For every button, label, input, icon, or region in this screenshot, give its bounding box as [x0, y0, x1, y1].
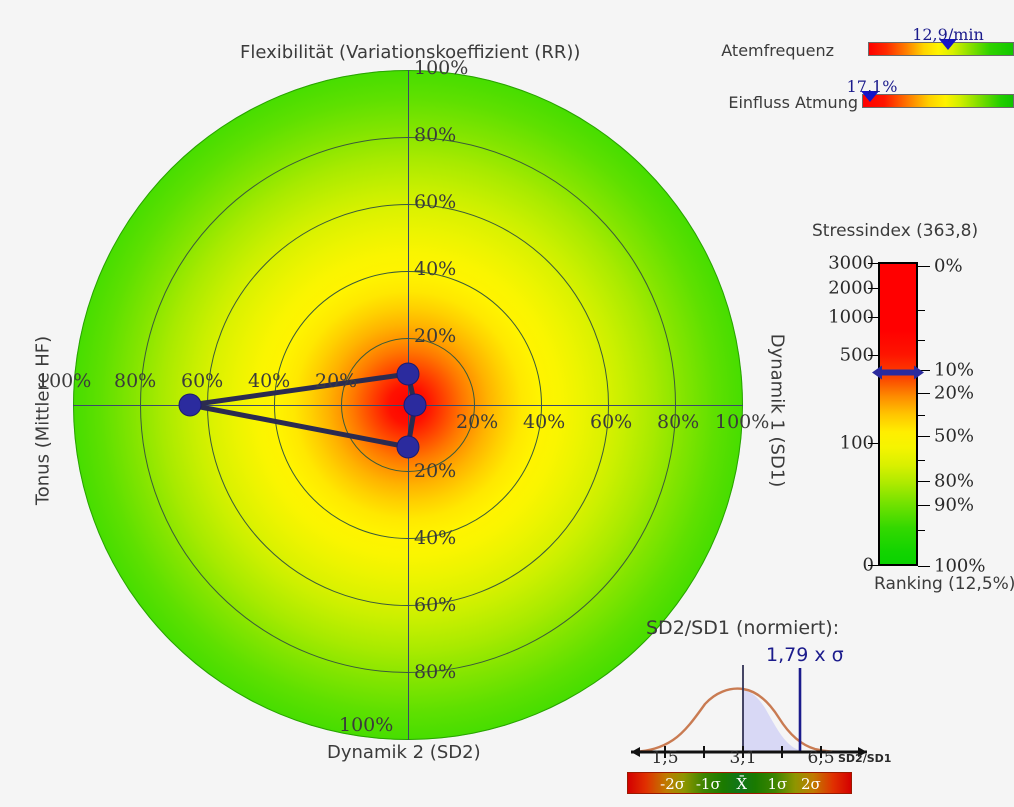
sd-ratio-title: SD2/SD1 (normiert): — [646, 617, 839, 639]
stressindex-colorbar[interactable] — [878, 262, 918, 566]
stress-tickmark-2000 — [868, 288, 880, 289]
sigma-label-minus2: -2σ — [660, 775, 685, 793]
stress-ranktick-50 — [918, 436, 930, 437]
gauge-einfluss-atmung-value: 17,1% — [847, 77, 898, 96]
tick-up-80: 80% — [414, 124, 456, 146]
gauge-atemfrequenz-label: Atemfrequenz — [721, 41, 834, 60]
gauge-atemfrequenz-value: 12,9/min — [912, 25, 984, 44]
stressindex-title: Stressindex (363,8) — [812, 221, 978, 241]
data-point-flexibilitaet[interactable] — [397, 363, 420, 386]
tick-lf-80: 80% — [114, 370, 156, 392]
axis-title-left: Tonus (Mittlere HF) — [33, 321, 54, 521]
tick-lf-40: 40% — [248, 370, 290, 392]
tick-dn-60: 60% — [414, 594, 456, 616]
tick-lf-60: 60% — [181, 370, 223, 392]
stress-ranktick-minor-2 — [918, 340, 925, 341]
stress-tickmark-3000 — [868, 263, 880, 264]
tick-up-40: 40% — [414, 258, 456, 280]
stress-tickmark-100 — [868, 443, 880, 444]
axis-title-top: Flexibilität (Variationskoeffizient (RR)… — [240, 42, 580, 63]
sigma-label-minus1: -1σ — [696, 775, 721, 793]
sigma-scale-bar[interactable]: -2σ -1σ X̄ 1σ 2σ — [627, 772, 852, 794]
stress-ranktick-minor-1 — [918, 310, 925, 311]
stress-rank-20: 20% — [934, 383, 974, 404]
tick-lf-20: 20% — [315, 370, 357, 392]
stress-tickmark-500 — [868, 355, 880, 356]
tick-dn-20: 20% — [414, 460, 456, 482]
sigma-label-plus2: 2σ — [801, 775, 821, 793]
stress-tick-100: 100 — [816, 433, 874, 454]
stress-tick-3000: 3000 — [816, 253, 874, 274]
stress-rank-0: 0% — [934, 256, 963, 277]
stress-tickmark-1000 — [868, 317, 880, 318]
stress-ranktick-0 — [918, 266, 930, 267]
stress-rank-90: 90% — [934, 495, 974, 516]
data-point-dynamik1[interactable] — [404, 394, 427, 417]
stress-tick-2000: 2000 — [816, 278, 874, 299]
stress-tickmark-0 — [868, 565, 880, 566]
stress-tick-0: 0 — [816, 555, 874, 576]
sd-axis-label-high: 6,5 — [807, 748, 834, 768]
tick-rt-100: 100% — [715, 411, 769, 433]
stressindex-marker-arrow[interactable] — [870, 364, 926, 381]
stress-ranktick-minor-4 — [918, 460, 925, 461]
gauge-einfluss-atmung-bar[interactable] — [862, 94, 1014, 108]
tick-up-60: 60% — [414, 191, 456, 213]
tick-dn-80: 80% — [414, 661, 456, 683]
gauge-einfluss-atmung-label: Einfluss Atmung — [728, 93, 858, 112]
sigma-label-plus1: 1σ — [768, 775, 788, 793]
sd-axis-label-mean: 3,1 — [729, 748, 756, 768]
tick-rt-20: 20% — [456, 411, 498, 433]
sd-axis-unit-label: SD2/SD1 — [838, 752, 891, 765]
stress-ranktick-minor-3 — [918, 415, 925, 416]
tick-rt-60: 60% — [590, 411, 632, 433]
stress-ranktick-minor-5 — [918, 530, 925, 531]
sigma-label-mean: X̄ — [736, 775, 747, 793]
stress-ranktick-90 — [918, 505, 930, 506]
gauge-einfluss-atmung[interactable]: Einfluss Atmung 17,1% — [740, 90, 1014, 114]
stress-ranktick-80 — [918, 481, 930, 482]
stress-rank-10: 10% — [934, 360, 974, 381]
stress-tick-500: 500 — [816, 345, 874, 366]
stress-tick-1000: 1000 — [816, 307, 874, 328]
axis-title-bottom: Dynamik 2 (SD2) — [327, 742, 481, 763]
tick-dn-40: 40% — [414, 527, 456, 549]
polar-chart[interactable]: 100% 80% 60% 40% 20% 20% 40% 60% 80% 100… — [73, 70, 743, 740]
tick-dn-100: 100% — [339, 714, 393, 736]
stress-rank-80: 80% — [934, 471, 974, 492]
stressindex-ranking-label: Ranking (12,5%) — [874, 574, 1014, 594]
stress-rank-50: 50% — [934, 426, 974, 447]
data-point-tonus[interactable] — [179, 394, 202, 417]
data-point-dynamik2[interactable] — [397, 436, 420, 459]
stress-ranktick-20 — [918, 393, 930, 394]
sd-axis-label-low: 1,5 — [651, 748, 678, 768]
axis-title-right: Dynamik 1 (SD1) — [767, 321, 788, 501]
gauge-atemfrequenz[interactable]: Atemfrequenz 12,9/min — [740, 38, 1014, 62]
tick-rt-80: 80% — [657, 411, 699, 433]
tick-rt-40: 40% — [523, 411, 565, 433]
stress-ranktick-100 — [918, 566, 930, 567]
tick-up-20: 20% — [414, 325, 456, 347]
